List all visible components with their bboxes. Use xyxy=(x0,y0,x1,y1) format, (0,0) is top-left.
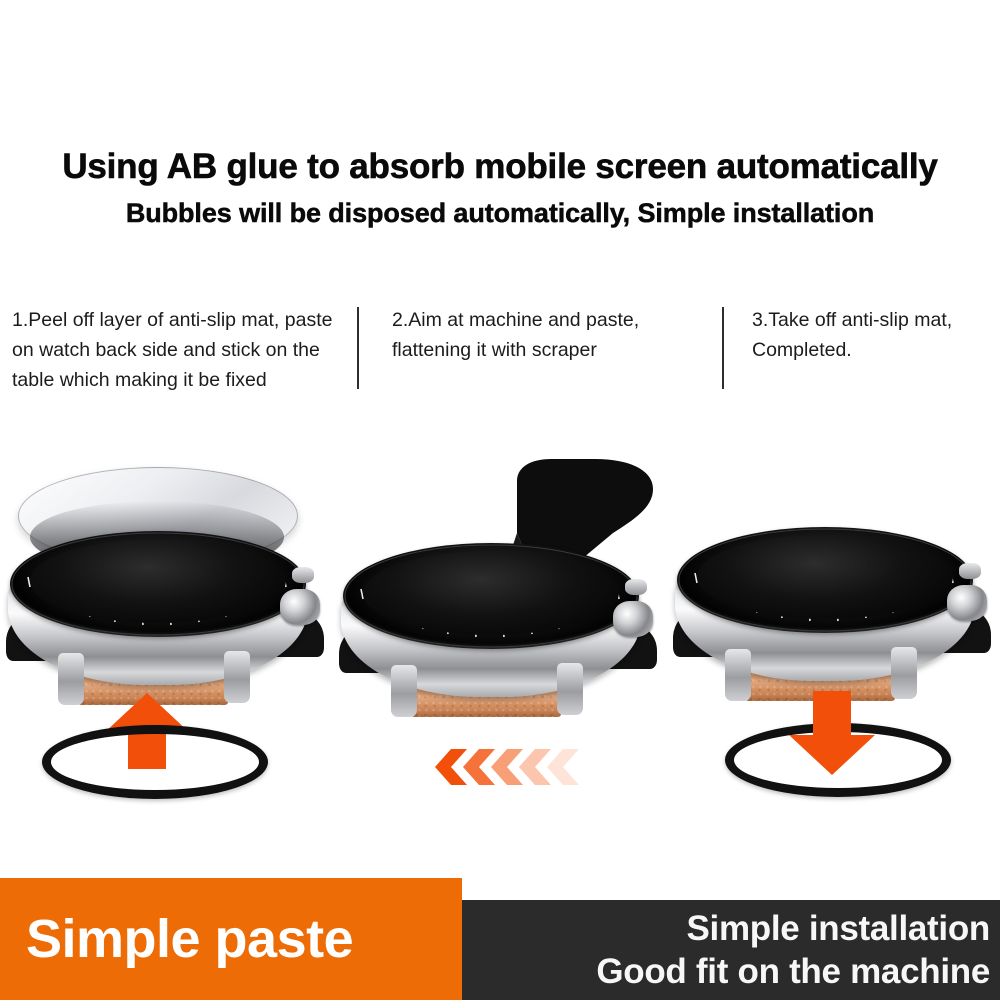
anti-slip-mat-ring-1 xyxy=(42,725,268,799)
page-subtitle: Bubbles will be disposed automatically, … xyxy=(0,199,1000,229)
product-infographic: Using AB glue to absorb mobile screen au… xyxy=(0,0,1000,1000)
watch-pusher xyxy=(292,567,314,583)
watch-dial xyxy=(363,551,619,635)
watch-lug-right xyxy=(224,651,250,703)
banner-simple-installation: Simple installation Good fit on the mach… xyxy=(462,900,1000,1000)
illustration-row: 15 14 10 55 xyxy=(0,455,1000,855)
illustration-panel-1: 15 14 10 55 xyxy=(0,455,333,855)
watch-crown xyxy=(280,589,320,625)
watch-lug-right xyxy=(557,663,583,715)
banner-dark-line-1: Simple installation xyxy=(686,907,1000,950)
step-2-text: 2.Aim at machine and paste, flattening i… xyxy=(392,305,704,365)
step-divider-2 xyxy=(722,307,724,389)
watch-dial xyxy=(30,539,286,623)
step-3-text: 3.Take off anti-slip mat, Completed. xyxy=(752,305,992,365)
left-chevrons-icon xyxy=(429,745,579,789)
banner-dark-line-2: Good fit on the machine xyxy=(596,950,1000,993)
watch-crown xyxy=(947,585,987,621)
watch-2: 15 14 10 55 xyxy=(333,527,666,777)
headline-block: Using AB glue to absorb mobile screen au… xyxy=(0,148,1000,228)
watch-lug-right xyxy=(891,647,917,699)
instruction-steps: 1.Peel off layer of anti-slip mat, paste… xyxy=(0,305,1000,455)
banner-simple-paste: Simple paste xyxy=(0,878,462,1000)
watch-pusher xyxy=(959,563,981,579)
watch-dial xyxy=(697,535,953,619)
watch-crown xyxy=(613,601,653,637)
watch-lug-left xyxy=(58,653,84,705)
watch-lug-left xyxy=(391,665,417,717)
step-divider-1 xyxy=(357,307,359,389)
watch-lug-left xyxy=(725,649,751,701)
banner-orange-label: Simple paste xyxy=(0,912,353,966)
illustration-panel-3: 15 14 10 55 xyxy=(667,455,1000,855)
step-1-text: 1.Peel off layer of anti-slip mat, paste… xyxy=(12,305,350,395)
illustration-panel-2: 15 14 10 55 xyxy=(333,455,666,855)
page-title: Using AB glue to absorb mobile screen au… xyxy=(0,148,1000,186)
down-arrow-icon xyxy=(789,691,875,775)
watch-pusher xyxy=(625,579,647,595)
